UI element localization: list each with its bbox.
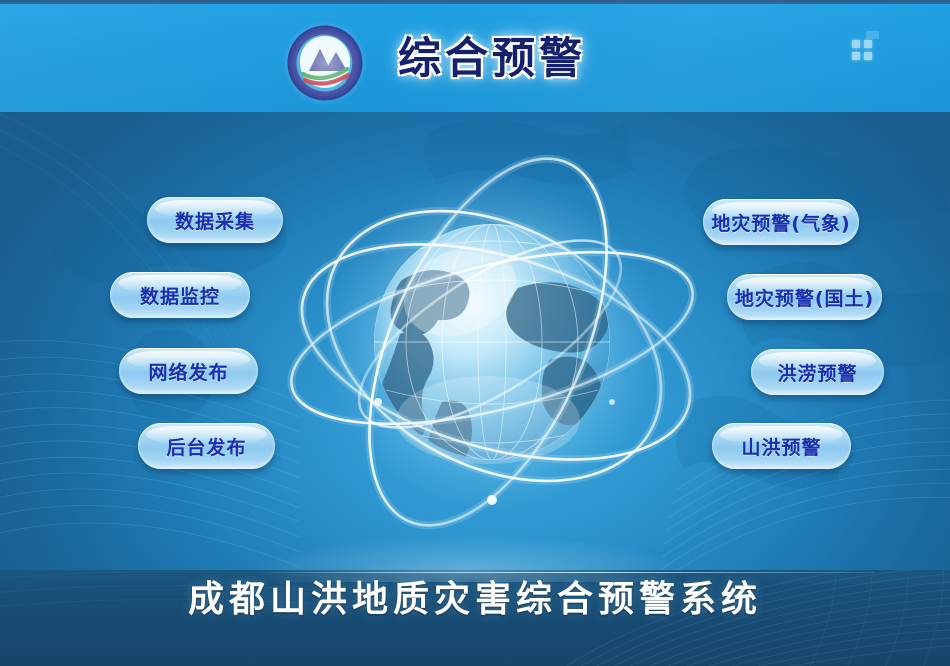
menu-item-geo-warning-meteorology[interactable]: 地灾预警(气象) — [703, 199, 859, 245]
logo-glow — [283, 21, 367, 105]
menu-item-label: 数据采集 — [175, 207, 255, 234]
window-top-strip — [0, 0, 950, 4]
application-window: 综合预警 — [0, 0, 950, 666]
quadrant-top-right — [864, 40, 872, 48]
menu-item-geo-warning-land[interactable]: 地灾预警(国土) — [727, 274, 882, 320]
four-quadrant-icon[interactable] — [852, 40, 872, 60]
chengdu-warning-logo — [287, 25, 363, 101]
quadrant-highlight — [866, 31, 879, 39]
globe-orbit-graphic — [282, 112, 702, 570]
main-stage — [0, 112, 950, 570]
quadrant-bottom-left — [852, 52, 860, 60]
menu-item-label: 地灾预警(气象) — [711, 209, 850, 236]
menu-item-backend-publish[interactable]: 后台发布 — [138, 423, 275, 469]
menu-item-mountain-flood-warning[interactable]: 山洪预警 — [712, 423, 851, 469]
menu-item-label: 山洪预警 — [741, 433, 821, 460]
menu-item-data-monitoring[interactable]: 数据监控 — [110, 272, 250, 318]
menu-item-label: 数据监控 — [140, 282, 220, 309]
menu-item-flood-warning[interactable]: 洪涝预警 — [751, 349, 884, 395]
quadrant-bottom-right — [864, 52, 872, 60]
quadrant-top-left — [852, 40, 860, 48]
header-bar: 综合预警 — [0, 4, 950, 112]
footer-divider — [255, 572, 875, 573]
globe-svg — [282, 112, 702, 570]
menu-item-web-publish[interactable]: 网络发布 — [119, 348, 258, 394]
menu-item-label: 洪涝预警 — [777, 359, 857, 386]
menu-item-label: 网络发布 — [148, 358, 228, 385]
menu-item-label: 地灾预警(国土) — [735, 284, 874, 311]
system-title: 成都山洪地质灾害综合预警系统 — [0, 576, 950, 624]
menu-item-data-collection[interactable]: 数据采集 — [147, 197, 283, 243]
page-title: 综合预警 — [398, 28, 598, 90]
menu-item-label: 后台发布 — [166, 433, 246, 460]
